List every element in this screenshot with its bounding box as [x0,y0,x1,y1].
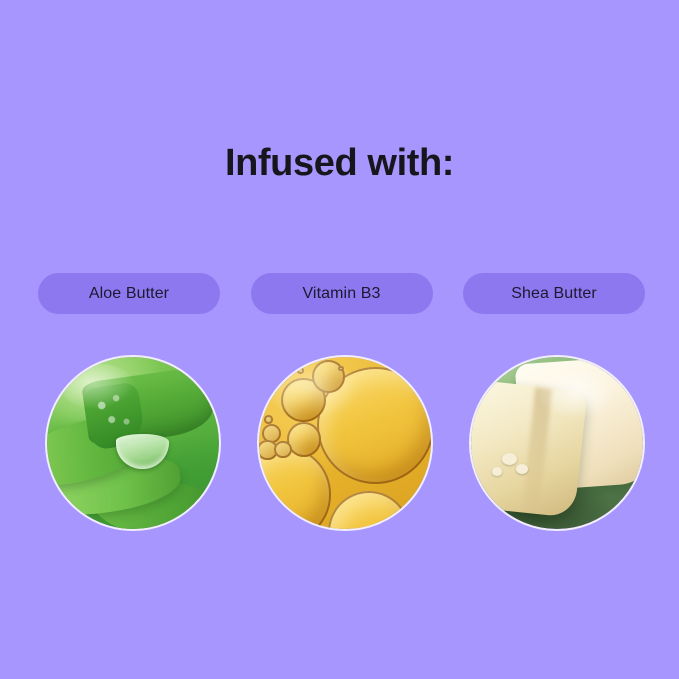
ingredient-pill-row: Aloe Butter Vitamin B3 Shea Butter [38,273,645,314]
ingredient-pill-label: Shea Butter [511,285,597,303]
shea-crumb-icon [492,467,502,476]
oil-circle-image [257,355,433,531]
shea-circle-image [469,355,645,531]
oil-artwork [259,357,431,529]
oil-bubble-icon [264,415,273,424]
ingredient-image-row [45,355,645,531]
ingredient-pill-label: Aloe Butter [89,285,169,303]
aloe-highlight [61,364,137,409]
shea-artwork [471,357,643,529]
infused-with-panel: Infused with: Aloe Butter Vitamin B3 She… [0,0,679,679]
ingredient-pill-vitamin-b3[interactable]: Vitamin B3 [251,273,433,314]
oil-bubble-icon [274,441,291,458]
aloe-artwork [47,357,219,529]
shea-gloss [536,367,615,419]
ingredient-pill-label: Vitamin B3 [302,285,380,303]
ingredient-pill-aloe-butter[interactable]: Aloe Butter [38,273,220,314]
oil-sheen [269,360,358,418]
shea-crumb-icon [516,464,528,474]
page-title: Infused with: [0,139,679,187]
oil-bubble-icon [287,422,321,456]
ingredient-pill-shea-butter[interactable]: Shea Butter [463,273,645,314]
aloe-circle-image [45,355,221,531]
